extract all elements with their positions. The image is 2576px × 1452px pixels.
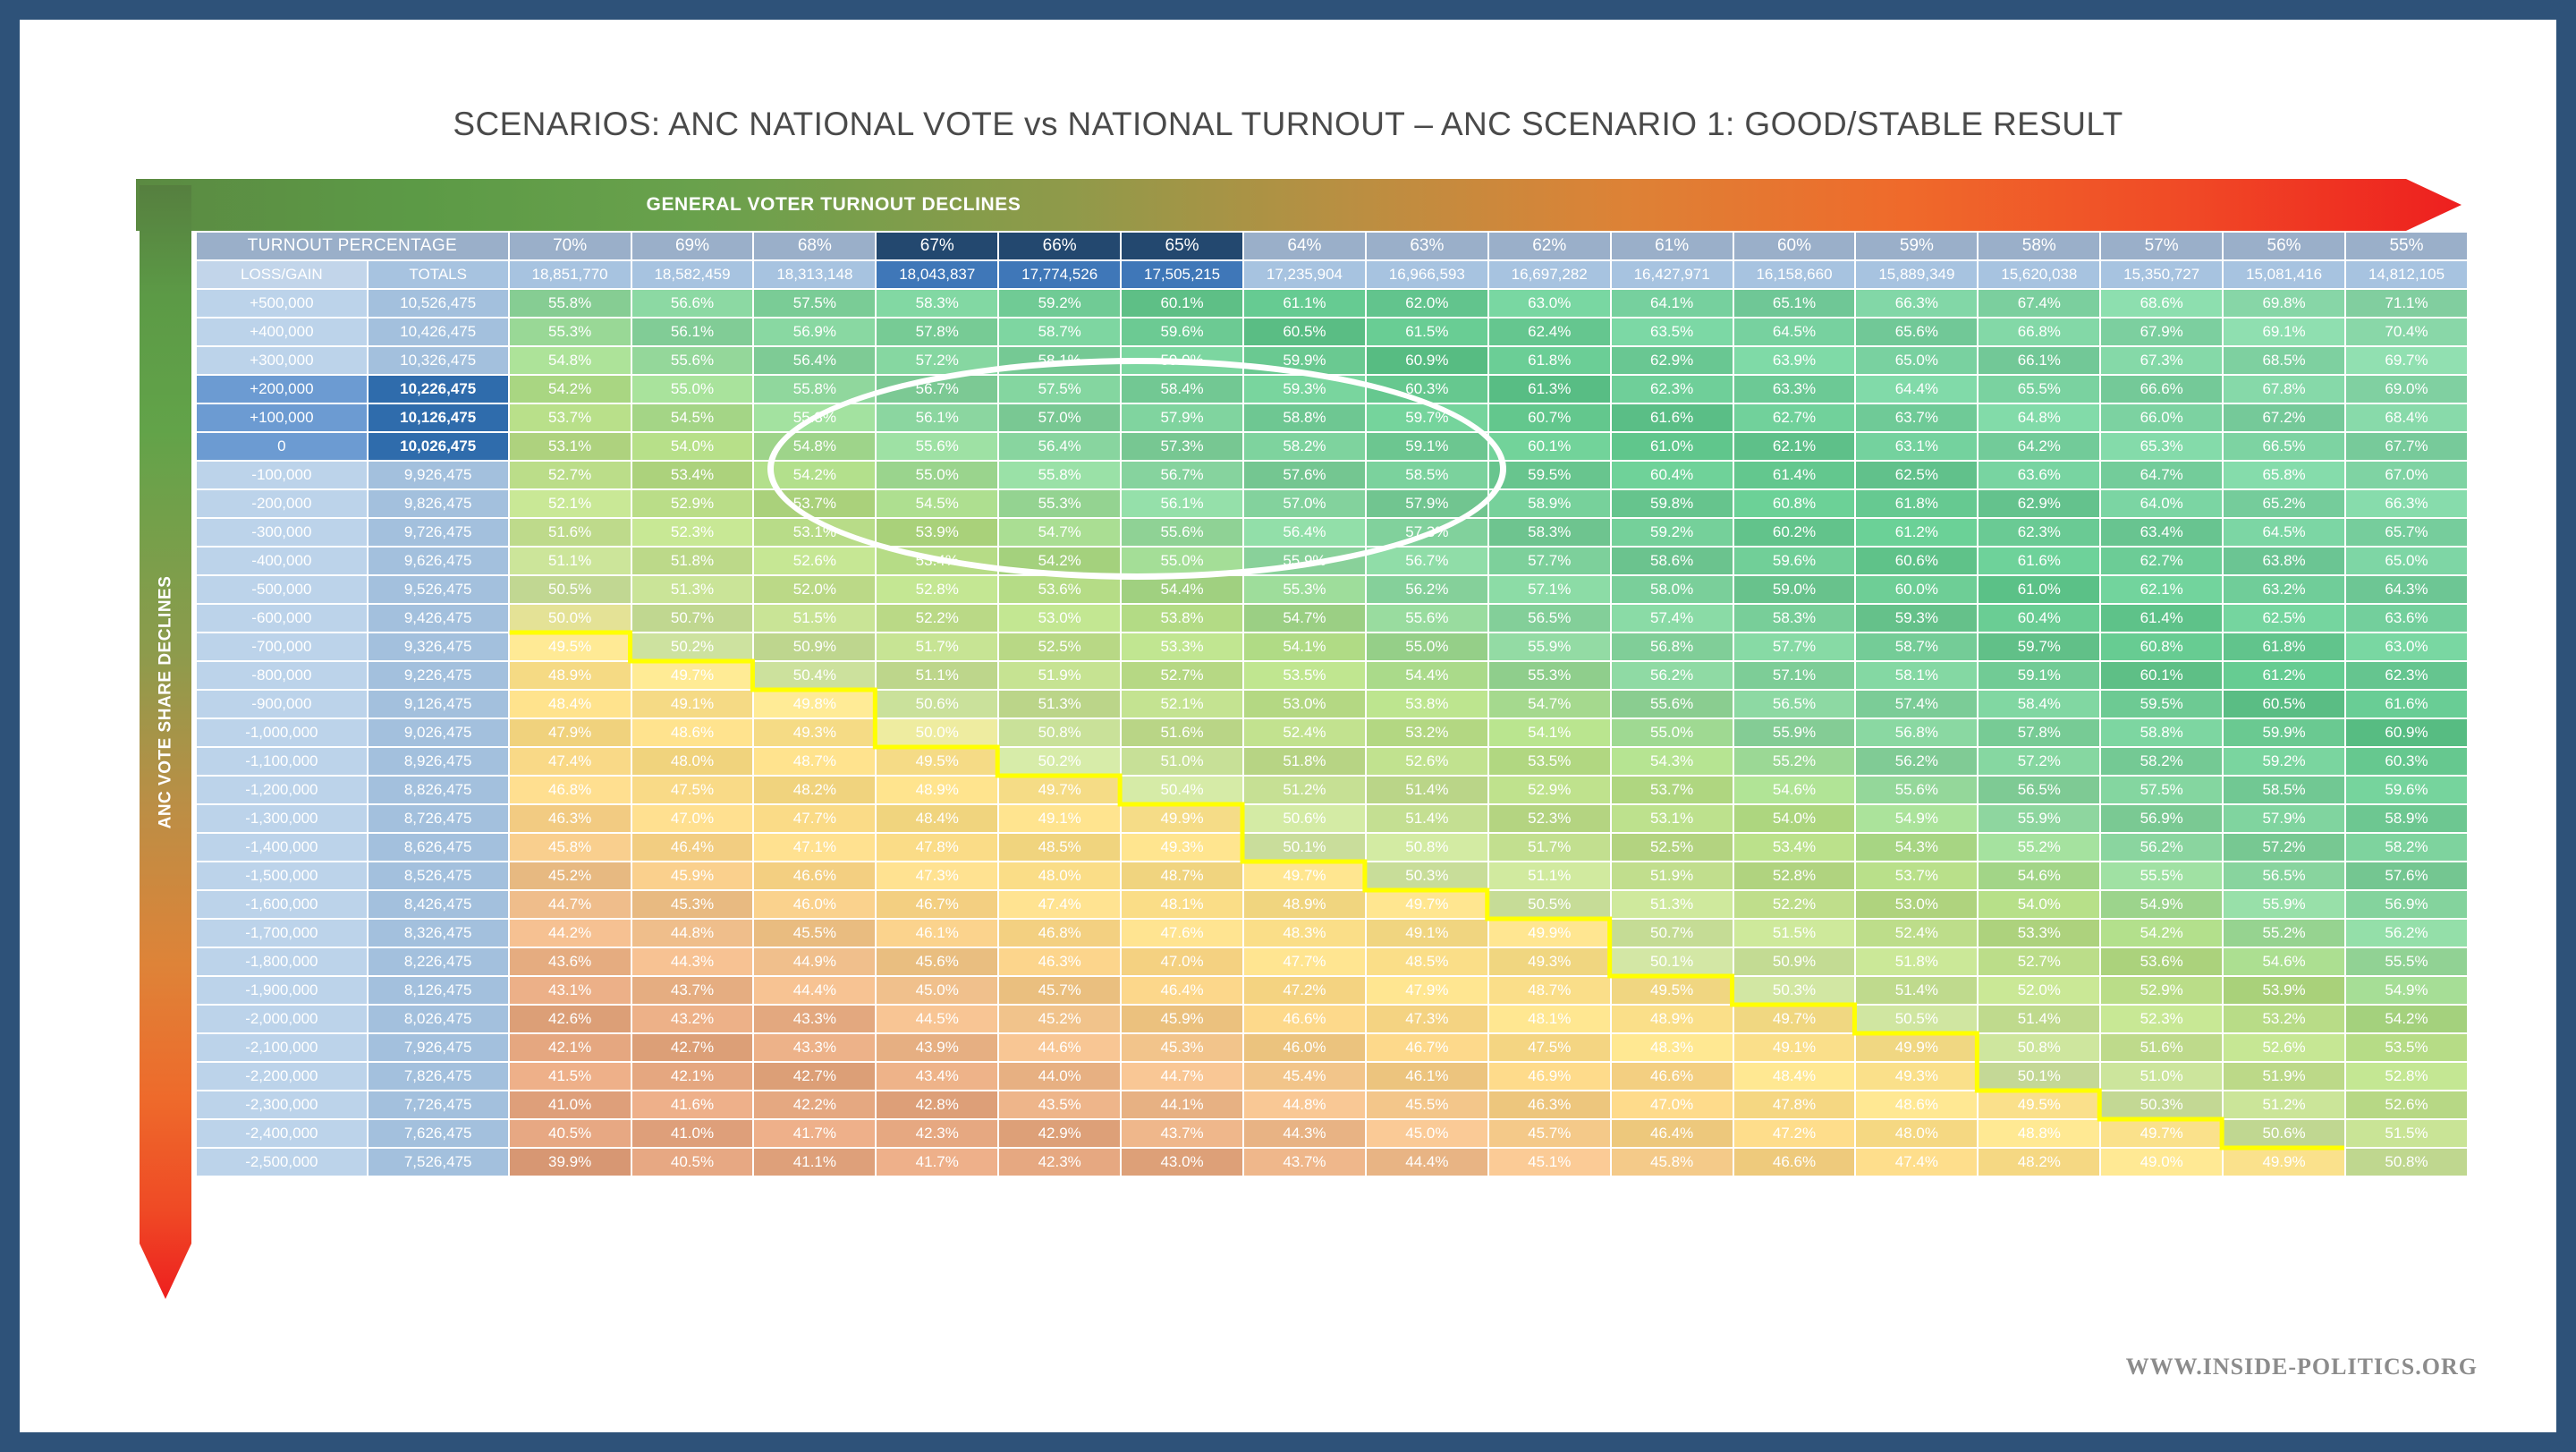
row-label-total: 7,926,475 [369,1034,508,1061]
data-cell: 51.4% [1367,777,1487,803]
data-cell: 43.4% [877,1063,997,1090]
row-label-loss-gain: -300,000 [197,519,367,546]
data-cell: 56.2% [2101,834,2222,861]
table-row: -2,500,0007,526,47539.9%40.5%41.1%41.7%4… [197,1149,2467,1176]
row-label-total: 7,726,475 [369,1091,508,1118]
column-header-total: 18,043,837 [877,261,997,288]
column-header-total: 18,851,770 [510,261,631,288]
data-cell: 46.0% [1244,1034,1365,1061]
data-cell: 56.2% [1612,662,1733,689]
data-cell: 48.4% [510,691,631,718]
table-row: -400,0009,626,47551.1%51.8%52.6%53.4%54.… [197,548,2467,574]
data-cell: 51.3% [1612,891,1733,918]
row-label-loss-gain: 0 [197,433,367,460]
data-cell: 52.7% [1122,662,1242,689]
data-cell: 55.9% [1979,805,2099,832]
data-cell: 65.3% [2101,433,2222,460]
data-cell: 59.8% [1612,490,1733,517]
data-cell: 53.7% [754,490,875,517]
data-cell: 49.5% [1612,977,1733,1004]
data-cell: 67.4% [1979,290,2099,317]
table-row: +300,00010,326,47554.8%55.6%56.4%57.2%58… [197,347,2467,374]
data-cell: 55.6% [1856,777,1977,803]
data-cell: 52.4% [1244,719,1365,746]
data-cell: 56.6% [632,290,753,317]
data-cell: 55.9% [2224,891,2344,918]
data-cell: 42.3% [877,1120,997,1147]
column-header-turnout: 64% [1244,233,1365,259]
data-cell: 46.9% [1489,1063,1610,1090]
table-row: -2,000,0008,026,47542.6%43.2%43.3%44.5%4… [197,1006,2467,1032]
data-cell: 63.0% [2346,633,2467,660]
data-cell: 55.6% [1367,605,1487,632]
data-cell: 53.6% [999,576,1120,603]
data-cell: 66.3% [2346,490,2467,517]
data-cell: 48.7% [754,748,875,775]
data-cell: 61.5% [1367,318,1487,345]
data-cell: 46.3% [510,805,631,832]
data-cell: 52.0% [754,576,875,603]
data-cell: 48.7% [1122,862,1242,889]
data-cell: 53.0% [1856,891,1977,918]
data-cell: 59.6% [1122,318,1242,345]
data-cell: 48.9% [510,662,631,689]
data-cell: 48.5% [999,834,1120,861]
data-cell: 51.6% [510,519,631,546]
table-row: -2,100,0007,926,47542.1%42.7%43.3%43.9%4… [197,1034,2467,1061]
column-header-turnout: 58% [1979,233,2099,259]
data-cell: 57.7% [1489,548,1610,574]
table-row: +500,00010,526,47555.8%56.6%57.5%58.3%59… [197,290,2467,317]
row-label-loss-gain: -2,300,000 [197,1091,367,1118]
data-cell: 53.9% [2224,977,2344,1004]
data-cell: 57.5% [754,290,875,317]
column-header-turnout: 67% [877,233,997,259]
row-label-loss-gain: -1,800,000 [197,948,367,975]
data-cell: 53.5% [1244,662,1365,689]
data-cell: 51.6% [2101,1034,2222,1061]
data-cell: 59.0% [1734,576,1855,603]
data-cell: 60.4% [1612,462,1733,488]
data-cell: 64.2% [1979,433,2099,460]
data-cell: 53.0% [999,605,1120,632]
column-header-total: 17,235,904 [1244,261,1365,288]
data-cell: 55.8% [999,462,1120,488]
table-row: -1,300,0008,726,47546.3%47.0%47.7%48.4%4… [197,805,2467,832]
data-cell: 55.0% [1122,548,1242,574]
data-cell: 46.1% [1367,1063,1487,1090]
data-cell: 45.6% [877,948,997,975]
data-cell: 49.3% [1489,948,1610,975]
data-cell: 49.1% [999,805,1120,832]
data-cell: 59.2% [2224,748,2344,775]
data-cell: 48.7% [1489,977,1610,1004]
row-label-loss-gain: +100,000 [197,404,367,431]
data-cell: 43.6% [510,948,631,975]
data-cell: 44.3% [632,948,753,975]
data-cell: 58.0% [1612,576,1733,603]
data-cell: 48.4% [877,805,997,832]
data-cell: 45.7% [1489,1120,1610,1147]
data-cell: 48.2% [1979,1149,2099,1176]
totals-header: TOTALS [369,261,508,288]
data-cell: 61.1% [1244,290,1365,317]
data-cell: 50.5% [1856,1006,1977,1032]
column-header-turnout: 56% [2224,233,2344,259]
data-cell: 46.6% [754,862,875,889]
data-cell: 50.6% [1244,805,1365,832]
table-row: -2,300,0007,726,47541.0%41.6%42.2%42.8%4… [197,1091,2467,1118]
data-cell: 46.4% [632,834,753,861]
data-cell: 59.6% [1734,548,1855,574]
data-cell: 65.1% [1734,290,1855,317]
column-header-total: 17,774,526 [999,261,1120,288]
data-cell: 65.0% [1856,347,1977,374]
header-row-totals: LOSS/GAIN TOTALS 18,851,77018,582,45918,… [197,261,2467,288]
data-cell: 50.0% [877,719,997,746]
data-cell: 58.8% [2101,719,2222,746]
column-header-total: 18,582,459 [632,261,753,288]
data-cell: 50.1% [1244,834,1365,861]
data-cell: 51.3% [999,691,1120,718]
data-cell: 49.3% [754,719,875,746]
data-cell: 54.0% [1979,891,2099,918]
data-cell: 60.5% [1244,318,1365,345]
data-cell: 52.5% [999,633,1120,660]
data-cell: 56.1% [632,318,753,345]
data-cell: 50.9% [1734,948,1855,975]
data-cell: 69.7% [2346,347,2467,374]
data-cell: 62.1% [1734,433,1855,460]
data-cell: 64.0% [2101,490,2222,517]
data-cell: 55.3% [1244,576,1365,603]
table-row: -600,0009,426,47550.0%50.7%51.5%52.2%53.… [197,605,2467,632]
data-cell: 67.2% [2224,404,2344,431]
data-cell: 53.1% [1612,805,1733,832]
row-label-total: 8,726,475 [369,805,508,832]
data-cell: 58.2% [1244,433,1365,460]
data-cell: 48.9% [1244,891,1365,918]
row-label-loss-gain: -1,200,000 [197,777,367,803]
row-label-total: 9,026,475 [369,719,508,746]
data-cell: 63.0% [1489,290,1610,317]
data-cell: 56.4% [754,347,875,374]
data-cell: 51.5% [754,605,875,632]
data-cell: 44.5% [877,1006,997,1032]
row-label-total: 8,226,475 [369,948,508,975]
data-cell: 53.7% [1612,777,1733,803]
row-label-total: 9,626,475 [369,548,508,574]
data-cell: 47.3% [877,862,997,889]
data-cell: 48.0% [632,748,753,775]
data-cell: 64.7% [2101,462,2222,488]
data-cell: 52.9% [2101,977,2222,1004]
data-cell: 46.3% [999,948,1120,975]
data-cell: 50.8% [1367,834,1487,861]
data-cell: 53.8% [1122,605,1242,632]
data-cell: 57.1% [1734,662,1855,689]
data-cell: 48.0% [1856,1120,1977,1147]
table-row: 010,026,47553.1%54.0%54.8%55.6%56.4%57.3… [197,433,2467,460]
data-cell: 56.5% [2224,862,2344,889]
data-cell: 43.7% [1122,1120,1242,1147]
data-cell: 54.7% [1244,605,1365,632]
column-header-total: 16,966,593 [1367,261,1487,288]
table-row: -1,700,0008,326,47544.2%44.8%45.5%46.1%4… [197,920,2467,947]
data-cell: 49.3% [1856,1063,1977,1090]
data-cell: 55.2% [2224,920,2344,947]
data-cell: 43.1% [510,977,631,1004]
data-cell: 55.8% [510,290,631,317]
data-cell: 49.0% [2101,1149,2222,1176]
data-cell: 66.5% [2224,433,2344,460]
data-cell: 41.0% [510,1091,631,1118]
column-header-total: 15,889,349 [1856,261,1977,288]
data-cell: 54.7% [1489,691,1610,718]
data-cell: 47.5% [632,777,753,803]
data-cell: 42.7% [632,1034,753,1061]
data-cell: 63.6% [1979,462,2099,488]
data-cell: 64.1% [1612,290,1733,317]
row-label-loss-gain: -200,000 [197,490,367,517]
column-header-turnout: 62% [1489,233,1610,259]
data-cell: 44.4% [1367,1149,1487,1176]
data-cell: 45.8% [1612,1149,1733,1176]
table-row: -1,100,0008,926,47547.4%48.0%48.7%49.5%5… [197,748,2467,775]
data-cell: 54.2% [754,462,875,488]
data-cell: 42.6% [510,1006,631,1032]
loss-gain-header: LOSS/GAIN [197,261,367,288]
data-cell: 55.2% [1979,834,2099,861]
data-cell: 59.3% [1244,376,1365,403]
column-header-turnout: 68% [754,233,875,259]
data-cell: 65.0% [2346,548,2467,574]
turnout-percentage-header: TURNOUT PERCENTAGE [197,233,508,259]
data-cell: 60.8% [2101,633,2222,660]
data-cell: 55.2% [1734,748,1855,775]
column-header-turnout: 69% [632,233,753,259]
data-cell: 66.8% [1979,318,2099,345]
data-cell: 54.8% [754,433,875,460]
column-header-total: 16,158,660 [1734,261,1855,288]
data-cell: 50.3% [1367,862,1487,889]
data-cell: 50.8% [2346,1149,2467,1176]
data-cell: 46.0% [754,891,875,918]
data-cell: 65.8% [2224,462,2344,488]
data-cell: 53.4% [877,548,997,574]
row-label-loss-gain: -1,600,000 [197,891,367,918]
data-cell: 55.3% [510,318,631,345]
table-row: +200,00010,226,47554.2%55.0%55.8%56.7%57… [197,376,2467,403]
data-cell: 53.5% [2346,1034,2467,1061]
data-cell: 44.8% [632,920,753,947]
data-cell: 67.8% [2224,376,2344,403]
row-label-total: 9,826,475 [369,490,508,517]
data-cell: 62.5% [2224,605,2344,632]
data-cell: 44.2% [510,920,631,947]
data-cell: 52.9% [632,490,753,517]
data-cell: 59.3% [1856,605,1977,632]
data-cell: 45.8% [510,834,631,861]
data-cell: 50.3% [2101,1091,2222,1118]
row-label-loss-gain: +400,000 [197,318,367,345]
data-cell: 50.3% [1734,977,1855,1004]
data-cell: 59.1% [1979,662,2099,689]
data-cell: 61.8% [2224,633,2344,660]
data-cell: 56.5% [1979,777,2099,803]
row-label-loss-gain: -600,000 [197,605,367,632]
data-cell: 55.5% [2101,862,2222,889]
data-cell: 49.9% [1122,805,1242,832]
data-cell: 45.9% [1122,1006,1242,1032]
data-cell: 56.7% [1122,462,1242,488]
data-cell: 57.2% [877,347,997,374]
row-label-total: 7,626,475 [369,1120,508,1147]
data-cell: 47.0% [1612,1091,1733,1118]
data-cell: 57.8% [1979,719,2099,746]
data-cell: 56.2% [1367,576,1487,603]
data-cell: 68.5% [2224,347,2344,374]
data-cell: 44.1% [1122,1091,1242,1118]
data-cell: 43.7% [632,977,753,1004]
data-cell: 60.9% [1367,347,1487,374]
data-cell: 61.4% [1734,462,1855,488]
turnout-declines-banner: GENERAL VOTER TURNOUT DECLINES [136,179,2462,231]
data-cell: 60.3% [2346,748,2467,775]
data-cell: 55.6% [1122,519,1242,546]
table-row: -1,200,0008,826,47546.8%47.5%48.2%48.9%4… [197,777,2467,803]
data-cell: 56.7% [877,376,997,403]
table-row: -2,200,0007,826,47541.5%42.1%42.7%43.4%4… [197,1063,2467,1090]
data-cell: 54.1% [1244,633,1365,660]
column-header-turnout: 61% [1612,233,1733,259]
data-cell: 44.4% [754,977,875,1004]
data-cell: 58.9% [2346,805,2467,832]
row-label-loss-gain: -1,900,000 [197,977,367,1004]
column-header-turnout: 59% [1856,233,1977,259]
data-cell: 62.7% [2101,548,2222,574]
data-cell: 60.1% [2101,662,2222,689]
data-cell: 50.8% [1979,1034,2099,1061]
data-cell: 69.8% [2224,290,2344,317]
data-cell: 49.7% [2101,1120,2222,1147]
scenario-table: TURNOUT PERCENTAGE 70%69%68%67%66%65%64%… [195,231,2469,1177]
data-cell: 39.9% [510,1149,631,1176]
data-cell: 66.0% [2101,404,2222,431]
data-cell: 49.7% [1734,1006,1855,1032]
row-label-loss-gain: -1,100,000 [197,748,367,775]
data-cell: 68.6% [2101,290,2222,317]
data-cell: 66.3% [1856,290,1977,317]
data-cell: 52.5% [1612,834,1733,861]
data-cell: 49.1% [1734,1034,1855,1061]
data-cell: 55.8% [754,376,875,403]
data-cell: 54.1% [1489,719,1610,746]
header-row-turnout: TURNOUT PERCENTAGE 70%69%68%67%66%65%64%… [197,233,2467,259]
data-cell: 55.3% [999,490,1120,517]
data-cell: 58.2% [2346,834,2467,861]
data-cell: 55.0% [877,462,997,488]
data-cell: 46.3% [1489,1091,1610,1118]
data-cell: 62.3% [1612,376,1733,403]
data-cell: 67.9% [2101,318,2222,345]
data-cell: 55.0% [1612,719,1733,746]
column-header-total: 18,313,148 [754,261,875,288]
data-cell: 48.4% [1734,1063,1855,1090]
data-cell: 60.9% [2346,719,2467,746]
column-header-total: 15,081,416 [2224,261,2344,288]
row-label-loss-gain: -2,200,000 [197,1063,367,1090]
row-label-loss-gain: -1,700,000 [197,920,367,947]
data-cell: 48.5% [1367,948,1487,975]
data-cell: 51.8% [1244,748,1365,775]
data-cell: 56.8% [1856,719,1977,746]
data-cell: 62.9% [1979,490,2099,517]
data-cell: 46.1% [877,920,997,947]
column-header-total: 16,697,282 [1489,261,1610,288]
table-row: -200,0009,826,47552.1%52.9%53.7%54.5%55.… [197,490,2467,517]
row-label-total: 8,926,475 [369,748,508,775]
data-cell: 63.3% [1734,376,1855,403]
data-cell: 47.7% [754,805,875,832]
data-cell: 47.5% [1489,1034,1610,1061]
row-label-loss-gain: -400,000 [197,548,367,574]
data-cell: 53.1% [510,433,631,460]
data-cell: 52.2% [1734,891,1855,918]
data-cell: 56.9% [2346,891,2467,918]
data-cell: 61.0% [1612,433,1733,460]
data-cell: 69.1% [2224,318,2344,345]
data-cell: 49.8% [754,691,875,718]
table-row: -300,0009,726,47551.6%52.3%53.1%53.9%54.… [197,519,2467,546]
data-cell: 53.5% [1489,748,1610,775]
data-cell: 51.7% [1489,834,1610,861]
data-cell: 46.8% [510,777,631,803]
data-cell: 46.7% [1367,1034,1487,1061]
row-label-total: 8,326,475 [369,920,508,947]
data-cell: 41.6% [632,1091,753,1118]
data-cell: 59.9% [1244,347,1365,374]
row-label-total: 10,326,475 [369,347,508,374]
vote-share-declines-label: ANC VOTE SHARE DECLINES [156,575,175,828]
row-label-loss-gain: -1,000,000 [197,719,367,746]
data-cell: 53.2% [1367,719,1487,746]
data-cell: 57.4% [1612,605,1733,632]
data-cell: 54.3% [1612,748,1733,775]
data-cell: 50.0% [510,605,631,632]
data-cell: 55.3% [754,404,875,431]
column-header-turnout: 57% [2101,233,2222,259]
data-cell: 43.3% [754,1034,875,1061]
data-cell: 42.1% [632,1063,753,1090]
data-cell: 49.7% [1244,862,1365,889]
table-row: +400,00010,426,47555.3%56.1%56.9%57.8%58… [197,318,2467,345]
data-cell: 47.4% [999,891,1120,918]
data-cell: 59.7% [1367,404,1487,431]
data-cell: 55.9% [1244,548,1365,574]
data-cell: 44.3% [1244,1120,1365,1147]
data-cell: 52.2% [877,605,997,632]
data-cell: 54.2% [2346,1006,2467,1032]
data-cell: 61.3% [1489,376,1610,403]
data-cell: 45.2% [510,862,631,889]
column-header-total: 16,427,971 [1612,261,1733,288]
table-row: -900,0009,126,47548.4%49.1%49.8%50.6%51.… [197,691,2467,718]
table-row: -1,600,0008,426,47544.7%45.3%46.0%46.7%4… [197,891,2467,918]
data-cell: 53.2% [2224,1006,2344,1032]
turnout-declines-label: GENERAL VOTER TURNOUT DECLINES [647,194,1021,216]
data-cell: 54.9% [1856,805,1977,832]
